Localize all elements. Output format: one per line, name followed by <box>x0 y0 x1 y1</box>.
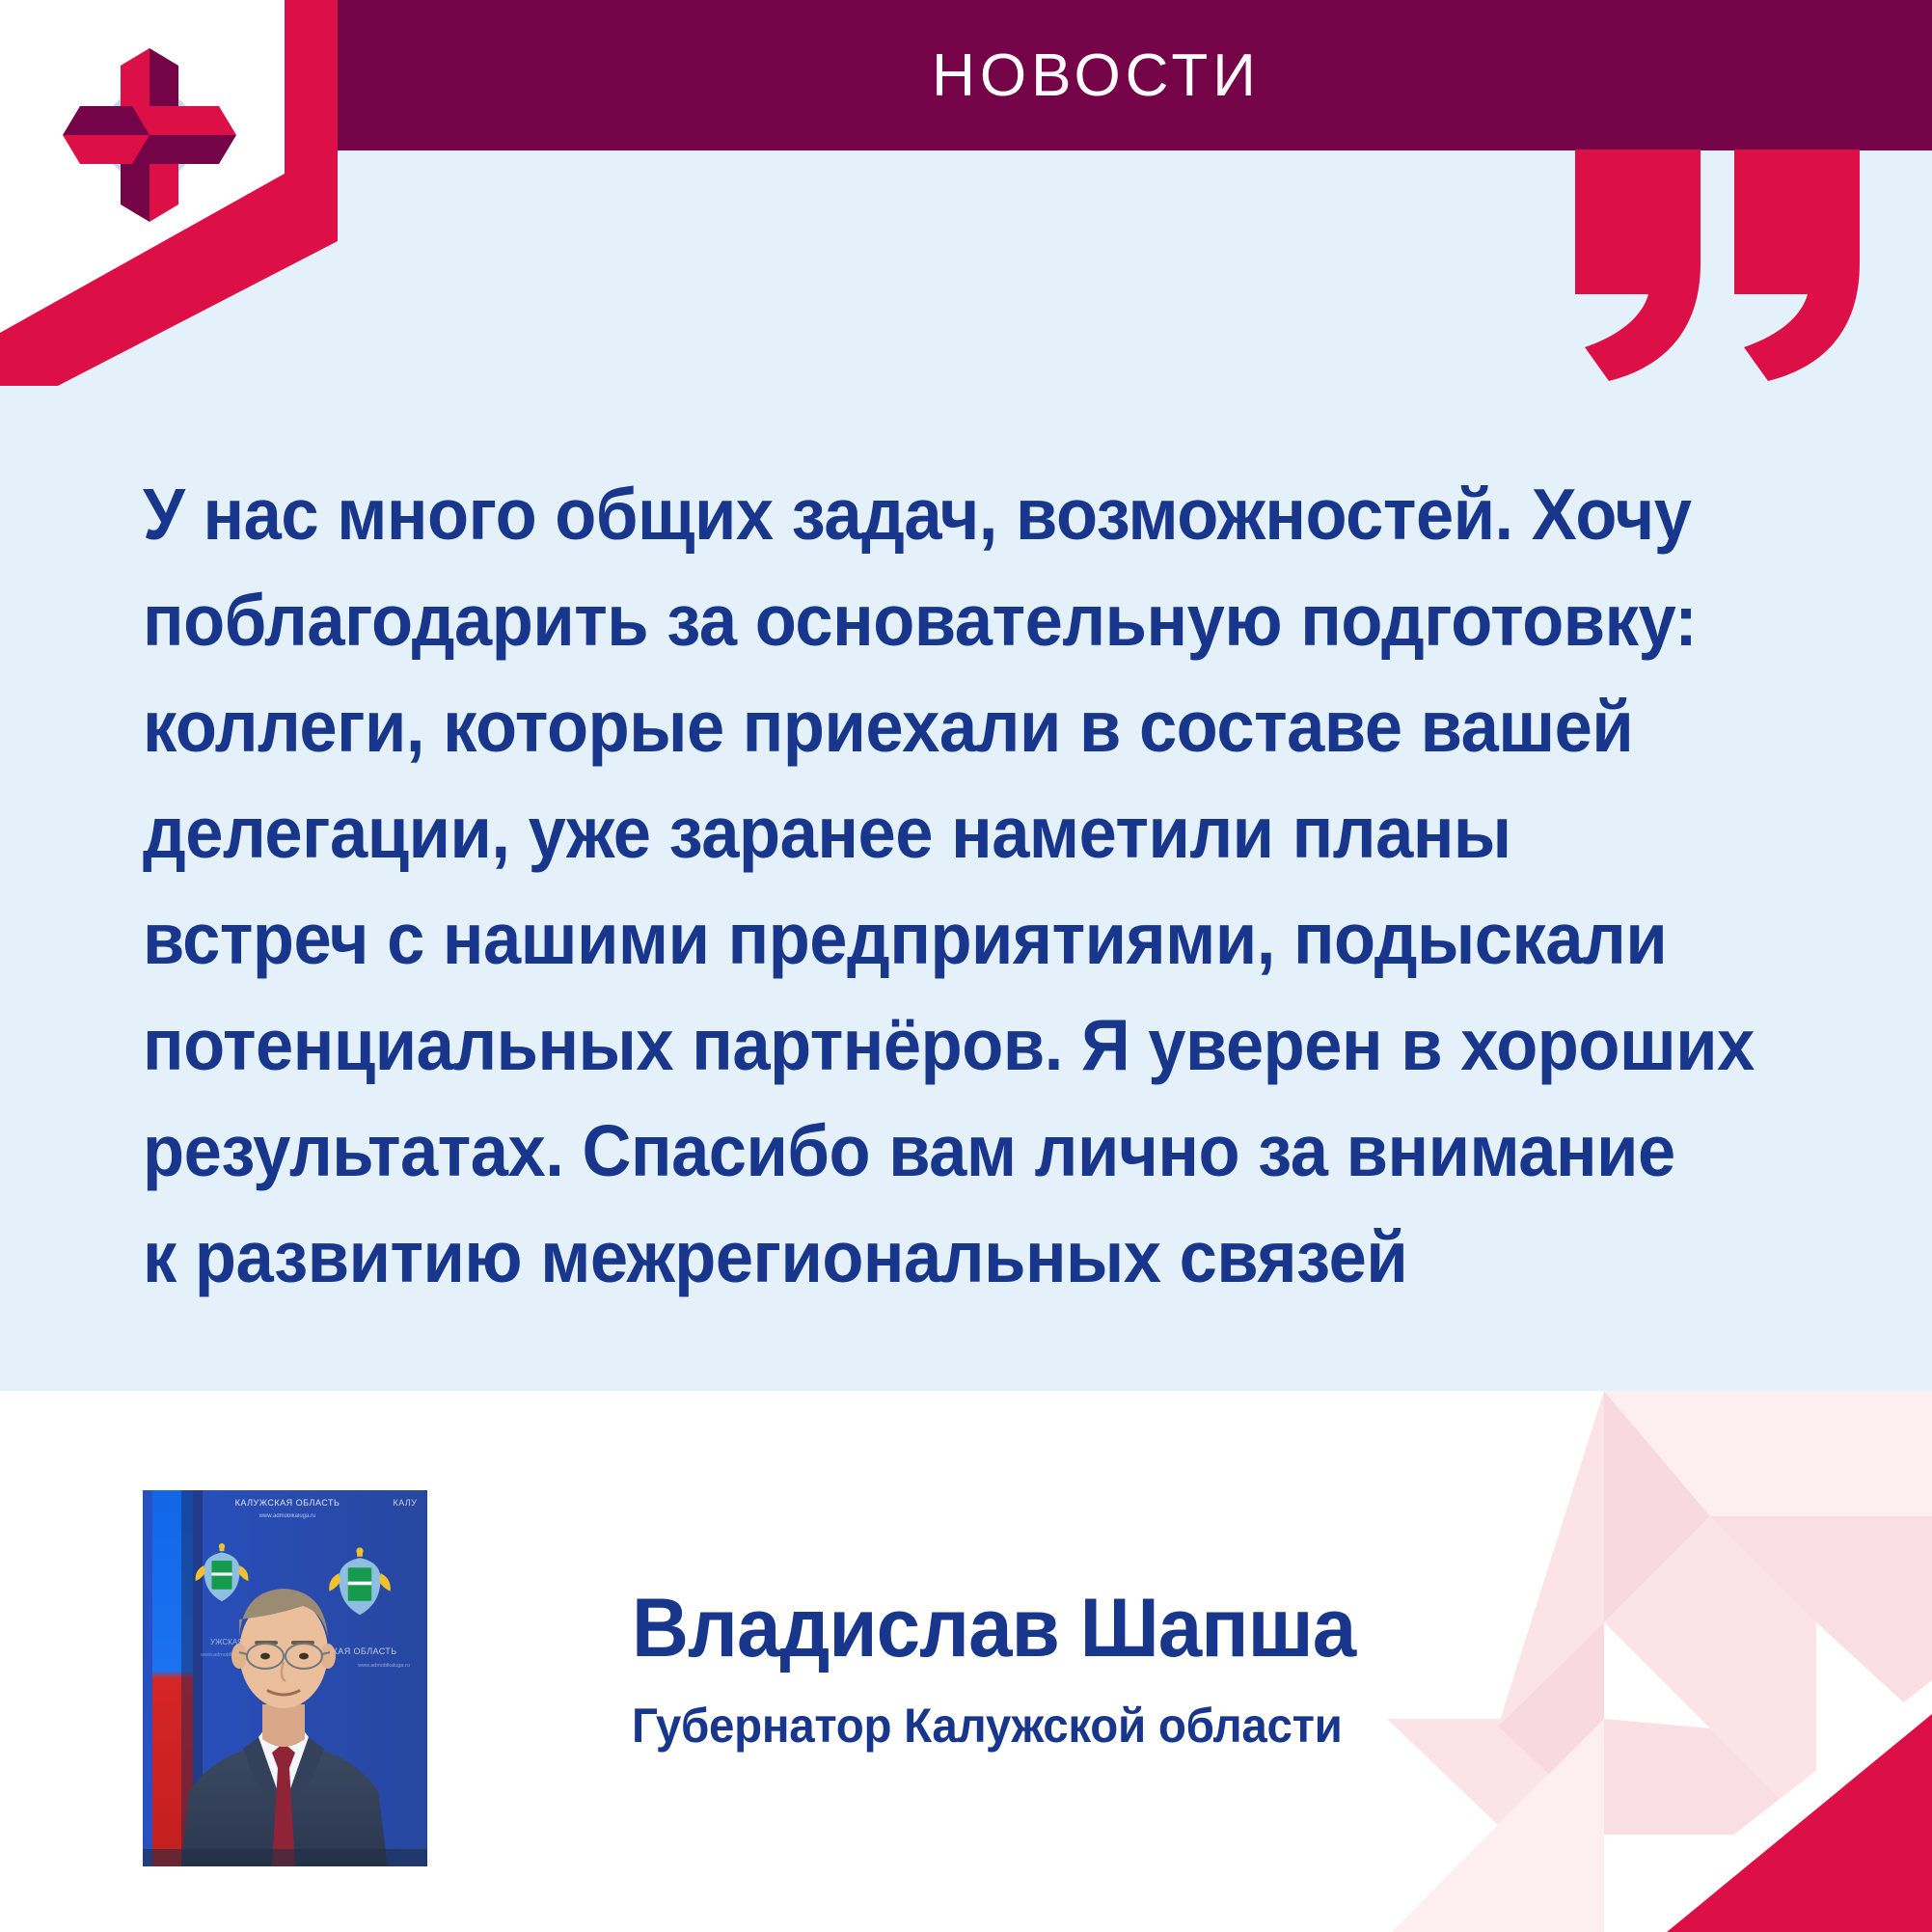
quote-line: к развитию межрегиональных связей <box>143 1204 1738 1310</box>
svg-text:www.admoblkaluga.ru: www.admoblkaluga.ru <box>259 1513 316 1519</box>
quote-line: У нас много общих задач, возможностей. Х… <box>143 461 1738 567</box>
quote-line: результатах. Спасибо вам лично за вниман… <box>143 1098 1738 1204</box>
header-bar: НОВОСТИ <box>338 0 1932 150</box>
svg-text:КАЛУ: КАЛУ <box>393 1498 417 1508</box>
quote-line: встреч с нашими предприятиями, подыскали <box>143 885 1738 992</box>
svg-text:КАЛУЖСКАЯ ОБЛАСТЬ: КАЛУЖСКАЯ ОБЛАСТЬ <box>235 1498 340 1508</box>
svg-text:www.admoblkaluga.ru: www.admoblkaluga.ru <box>357 1663 410 1669</box>
page-title: НОВОСТИ <box>932 41 1261 110</box>
eight-point-star-logo-icon <box>53 39 246 231</box>
speaker-attribution: Владислав Шапша Губернатор Калужской обл… <box>632 1582 1693 1754</box>
news-quote-card: НОВОСТИ У нас много общих задач, возможн… <box>0 0 1932 1932</box>
quote-text: У нас много общих задач, возможностей. Х… <box>143 461 1840 1310</box>
speaker-name: Владислав Шапша <box>632 1582 1640 1674</box>
quote-line: делегации, уже заранее наметили планы <box>143 779 1738 885</box>
speaker-photo: КАЛУЖСКАЯ ОБЛАСТЬ www.admoblkaluga.ru КА… <box>143 1490 427 1866</box>
speaker-role: Губернатор Калужской области <box>632 1698 1640 1754</box>
quote-mark-icon <box>1565 150 1874 381</box>
quote-line: потенциальных партнёров. Я уверен в хоро… <box>143 992 1738 1098</box>
quote-line: коллеги, которые приехали в составе ваше… <box>143 673 1738 779</box>
quote-line: поблагодарить за основательную подготовк… <box>143 567 1738 673</box>
